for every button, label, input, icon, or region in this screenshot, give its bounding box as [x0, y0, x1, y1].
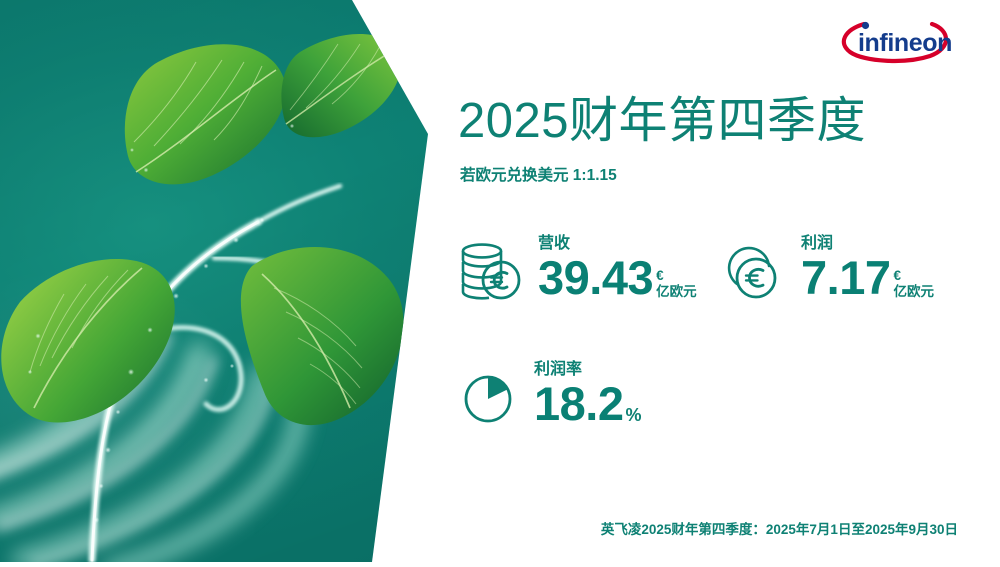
- metric-revenue-body: 营收 39.43 € 亿欧元: [538, 236, 697, 301]
- infineon-logo: infineon: [834, 14, 958, 68]
- metric-profit: 利润 7.17 € 亿欧元: [725, 236, 934, 307]
- metric-margin-valuerow: 18.2 %: [534, 382, 642, 427]
- metric-profit-value: 7.17: [801, 256, 890, 301]
- metric-profit-unit: € 亿欧元: [893, 268, 934, 298]
- two-coins-euro-icon: [725, 242, 785, 307]
- metric-profit-label: 利润: [801, 236, 934, 252]
- metric-revenue-valuerow: 39.43 € 亿欧元: [538, 256, 697, 301]
- metric-revenue-value: 39.43: [538, 256, 653, 301]
- metric-profit-unit-symbol: €: [893, 268, 934, 283]
- metric-profit-body: 利润 7.17 € 亿欧元: [801, 236, 934, 301]
- metric-revenue-unit-text: 亿欧元: [656, 284, 697, 299]
- metric-margin-value: 18.2: [534, 382, 623, 427]
- metric-revenue-unit-symbol: €: [656, 268, 697, 283]
- metric-profit-valuerow: 7.17 € 亿欧元: [801, 256, 934, 301]
- coin-stack-euro-icon: [458, 242, 522, 307]
- metric-margin-label: 利润率: [534, 362, 642, 378]
- metric-margin-body: 利润率 18.2 %: [534, 362, 642, 427]
- content-area: infineon 2025财年第四季度 若欧元兑换美元 1:1.15 营: [458, 0, 980, 562]
- metric-revenue-unit: € 亿欧元: [656, 268, 697, 298]
- background-artwork-plant: [0, 0, 440, 562]
- pie-chart-icon: [458, 368, 518, 433]
- svg-text:infineon: infineon: [858, 29, 952, 57]
- metric-revenue: 营收 39.43 € 亿欧元: [458, 236, 697, 307]
- period-footnote: 英飞凌2025财年第四季度：2025年7月1日至2025年9月30日: [601, 518, 958, 538]
- page-title: 2025财年第四季度: [458, 96, 866, 147]
- metric-revenue-label: 营收: [538, 236, 697, 252]
- metric-margin: 利润率 18.2 %: [458, 362, 642, 433]
- metric-margin-unit-symbol: %: [625, 406, 641, 424]
- metric-profit-unit-text: 亿欧元: [893, 284, 934, 299]
- exchange-rate-subtitle: 若欧元兑换美元 1:1.15: [460, 163, 617, 185]
